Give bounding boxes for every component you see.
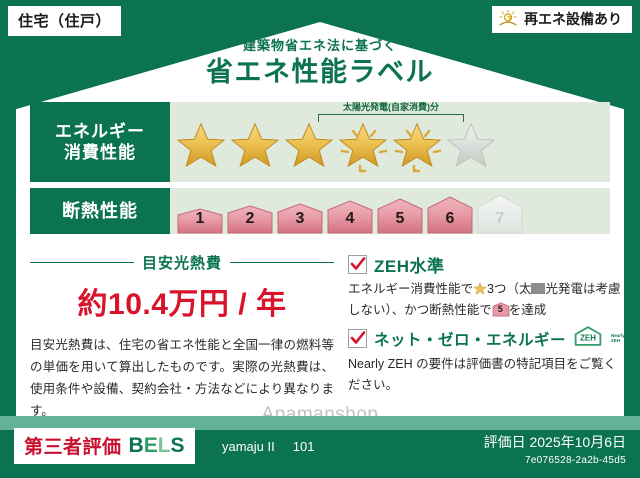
- redacted-block: [531, 283, 545, 294]
- star-icon: [473, 282, 487, 295]
- renewable-equipment-badge: 再エネ設備あり: [492, 6, 632, 33]
- insulation-performance-row: 断熱性能 1 2 3: [30, 188, 610, 234]
- building-identity: yamaju II 101: [222, 439, 314, 454]
- insulation-level-block-inactive: 7: [476, 194, 524, 234]
- net-zero-energy-item: ネット・ゼロ・エネルギー ZEH Nearly ZEH Nearly ZEH の…: [348, 325, 625, 395]
- heading-rule-right: [230, 262, 334, 263]
- insulation-level-number: 1: [176, 210, 224, 228]
- zeh-logo-caption-line-2: ZEH: [611, 338, 620, 343]
- solar-annotation: 太陽光発電(自家消費)分: [318, 100, 464, 122]
- solar-annotation-bracket: [318, 114, 464, 122]
- energy-label-root: 住宅（住戸） 再エネ設備あり 建築物省エネ法に基づく 省エネ性能ラベル: [0, 0, 640, 478]
- performance-band: エネルギー 消費性能 太陽光発電(自家消費)分: [30, 102, 610, 240]
- checkbox-checked-icon: [348, 255, 367, 274]
- energy-caption-line-1: エネルギー: [55, 121, 145, 142]
- bels-certification-badge: 第三者評価 BELS: [14, 428, 195, 464]
- solar-annotation-label: 太陽光発電(自家消費)分: [318, 100, 464, 113]
- insulation-level-block: 2: [226, 205, 274, 234]
- star-empty: [446, 121, 498, 177]
- zeh-standard-title: ZEH水準: [374, 252, 445, 277]
- utility-cost-panel: 目安光熱費 約10.4万円 / 年 目安光熱費は、住宅の省エネ性能と全国一律の燃…: [30, 248, 342, 406]
- building-name: yamaju II: [222, 439, 275, 454]
- energy-performance-caption: エネルギー 消費性能: [30, 102, 170, 182]
- insulation-rating-values: 1 2 3 4 5: [170, 188, 610, 234]
- lower-content: 目安光熱費 約10.4万円 / 年 目安光熱費は、住宅の省エネ性能と全国一律の燃…: [30, 248, 612, 406]
- sun-icon: [498, 9, 518, 29]
- heading-rule-left: [30, 262, 134, 263]
- insulation-level-number: 6: [426, 210, 474, 228]
- insulation-level-blocks: 1 2 3 4 5: [170, 188, 524, 234]
- svg-text:ZEH: ZEH: [580, 334, 596, 343]
- zeh-panel: ZEH水準 エネルギー消費性能で3つ（太光発電は考慮しない）、かつ断熱性能で5を…: [342, 248, 625, 406]
- room-number: 101: [293, 439, 315, 454]
- utility-cost-heading: 目安光熱費: [30, 252, 334, 273]
- zeh-logo-caption: Nearly ZEH: [611, 334, 625, 344]
- insulation-level-block: 3: [276, 203, 324, 234]
- utility-cost-heading-label: 目安光熱費: [142, 252, 222, 273]
- label-header: 建築物省エネ法に基づく 省エネ性能ラベル: [0, 38, 640, 88]
- star-filled: [230, 121, 282, 177]
- insulation-level-number: 5: [376, 210, 424, 228]
- header-subtitle: 建築物省エネ法に基づく: [0, 38, 640, 54]
- renewable-badge-label: 再エネ設備あり: [524, 9, 622, 29]
- zeh-standard-item: ZEH水準 エネルギー消費性能で3つ（太光発電は考慮しない）、かつ断熱性能で5を…: [348, 252, 625, 320]
- zeh-body-text-1: エネルギー消費性能で: [348, 282, 473, 296]
- zeh-standard-body: エネルギー消費性能で3つ（太光発電は考慮しない）、かつ断熱性能で5を達成: [348, 279, 625, 320]
- zeh-body-text-4: を達成: [509, 303, 547, 317]
- net-zero-energy-body: Nearly ZEH の要件は評価書の特記項目をご覧ください。: [348, 354, 625, 395]
- dwelling-type-badge: 住宅（住戸）: [8, 6, 121, 36]
- evaluation-date: 評価日 2025年10月6日: [484, 432, 626, 452]
- insulation-level-block: 4: [326, 200, 374, 234]
- insulation-level-number: 2: [226, 210, 274, 228]
- star-filled: [176, 121, 228, 177]
- utility-cost-amount: 約10.4万円 / 年: [30, 279, 334, 323]
- zeh-standard-heading: ZEH水準: [348, 252, 625, 277]
- energy-rating-values: 太陽光発電(自家消費)分: [170, 102, 610, 182]
- insulation-level-inline-badge: 5: [492, 302, 509, 316]
- insulation-performance-caption: 断熱性能: [30, 188, 170, 234]
- zeh-body-text-2: 3つ（太: [487, 282, 531, 296]
- insulation-level-block: 6: [426, 196, 474, 234]
- star-filled: [284, 121, 336, 177]
- insulation-level-number: 3: [276, 210, 324, 228]
- star-filled-solar: [392, 121, 444, 177]
- energy-performance-row: エネルギー 消費性能 太陽光発電(自家消費)分: [30, 102, 610, 182]
- label-footer: 第三者評価 BELS yamaju II 101 評価日 2025年10月6日 …: [0, 416, 640, 478]
- bels-jp-label: 第三者評価: [24, 432, 122, 459]
- evaluation-id: 7e076528-2a2b-45d5: [484, 455, 626, 466]
- star-filled-solar: [338, 121, 390, 177]
- zeh-house-logo-icon: ZEH: [573, 325, 603, 352]
- evaluation-info: 評価日 2025年10月6日 7e076528-2a2b-45d5: [484, 432, 626, 466]
- net-zero-energy-title: ネット・ゼロ・エネルギー: [374, 328, 566, 350]
- page-title: 省エネ性能ラベル: [0, 57, 640, 88]
- insulation-level-number: 4: [326, 210, 374, 228]
- insulation-level-block: 5: [376, 198, 424, 234]
- energy-caption-line-2: 消費性能: [64, 142, 136, 163]
- insulation-level-inline-number: 5: [492, 302, 509, 316]
- insulation-level-block: 1: [176, 208, 224, 234]
- insulation-level-number: 7: [476, 210, 524, 228]
- bels-logo: BELS: [129, 434, 185, 458]
- checkbox-checked-icon: [348, 329, 367, 348]
- net-zero-energy-heading: ネット・ゼロ・エネルギー ZEH Nearly ZEH: [348, 325, 625, 352]
